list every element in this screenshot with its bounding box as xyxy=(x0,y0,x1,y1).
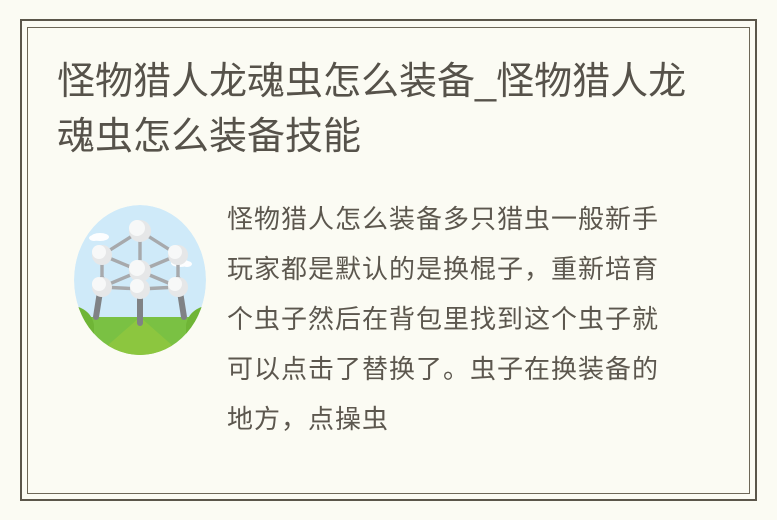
article-content: 怪物猎人龙魂虫怎么装备_怪物猎人龙魂虫怎么装备技能 xyxy=(27,27,750,494)
article-body-text: 怪物猎人怎么装备多只猎虫一般新手玩家都是默认的是换棍子，重新培育个虫子然后在背包… xyxy=(227,195,675,445)
article-body: 怪物猎人怎么装备多只猎虫一般新手玩家都是默认的是换棍子，重新培育个虫子然后在背包… xyxy=(27,195,750,494)
page-root: 怪物猎人龙魂虫怎么装备_怪物猎人龙魂虫怎么装备技能 xyxy=(0,0,777,520)
article-thumbnail[interactable] xyxy=(72,205,208,357)
article-title: 怪物猎人龙魂虫怎么装备_怪物猎人龙魂虫怎么装备技能 xyxy=(57,55,697,165)
atomium-landmark-icon xyxy=(72,205,208,355)
